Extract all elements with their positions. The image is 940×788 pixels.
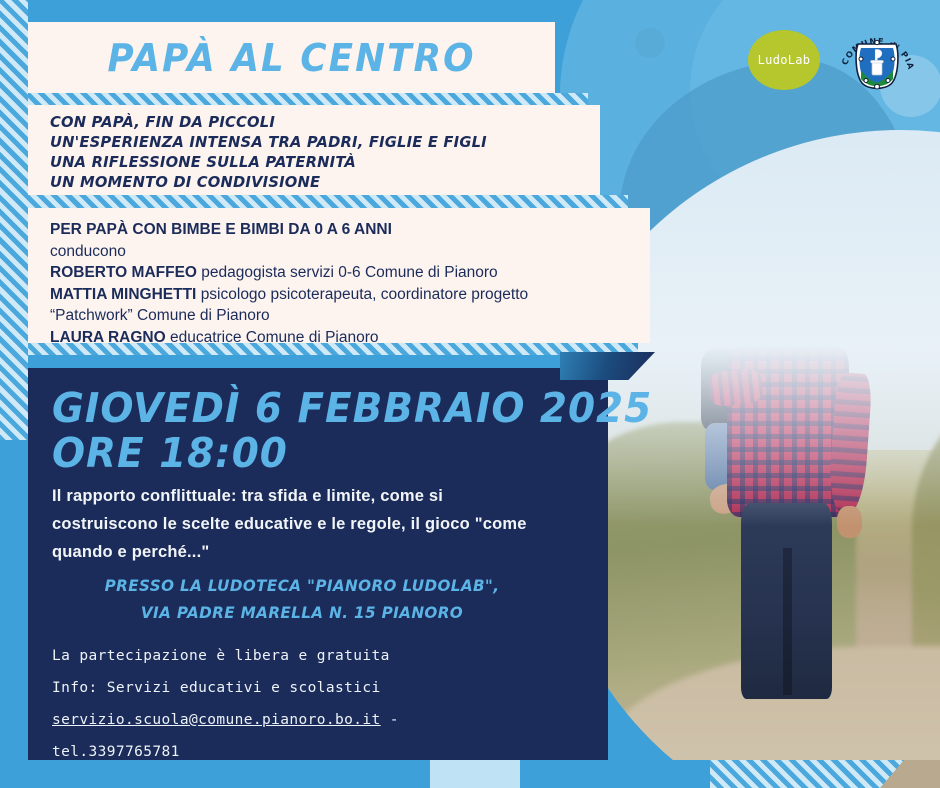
contact-email-row: servizio.scuola@comune.pianoro.bo.it - <box>52 704 572 736</box>
left-solid-column <box>0 440 28 788</box>
ludolab-logo: LudoLab <box>748 30 820 90</box>
conduct-label: conducono <box>50 241 650 263</box>
speaker-2-role: psicologo psicoterapeuta, coordinatore p… <box>201 286 528 303</box>
speaker-row-1: ROBERTO MAFFEO pedagogista servizi 0-6 C… <box>50 262 650 284</box>
audience-text-block: PER PAPÀ CON BIMBE E BIMBI DA 0 A 6 ANNI… <box>50 219 650 348</box>
event-venue-block: PRESSO LA LUDOTECA "PIANORO LUDOLAB", VI… <box>65 572 540 626</box>
speaker-row-2: MATTIA MINGHETTI psicologo psicoterapeut… <box>50 284 650 306</box>
speaker-1-role: pedagogista servizi 0-6 Comune di Pianor… <box>201 264 497 281</box>
stripe-divider-1 <box>28 93 588 105</box>
page-title: PAPÀ AL CENTRO <box>44 22 539 93</box>
intro-line-3: UNA RIFLESSIONE SULLA PATERNITÀ <box>50 152 563 172</box>
intro-line-1: CON PAPÀ, FIN DA PICCOLI <box>50 112 563 132</box>
intro-line-2: UN'ESPERIENZA INTENSA TRA PADRI, FIGLIE … <box>50 132 563 152</box>
speaker-row-4: LAURA RAGNO educatrice Comune di Pianoro <box>50 327 650 349</box>
contact-email[interactable]: servizio.scuola@comune.pianoro.bo.it <box>52 712 381 728</box>
venue-line-1: PRESSO LA LUDOTECA "PIANORO LUDOLAB", <box>65 572 540 599</box>
speaker-1-name: ROBERTO MAFFEO <box>50 264 197 281</box>
info-label: Info: Servizi educativi e scolastici <box>52 672 572 704</box>
background-dot-small <box>635 28 665 58</box>
speaker-row-3: “Patchwork” Comune di Pianoro <box>50 305 650 327</box>
poster-root: PAPÀ AL CENTRO CON PAPÀ, FIN DA PICCOLI … <box>0 0 940 788</box>
speaker-2-name: MATTIA MINGHETTI <box>50 286 196 303</box>
intro-line-4: UN MOMENTO DI CONDIVISIONE <box>50 172 563 192</box>
contact-block: La partecipazione è libera e gratuita In… <box>52 640 572 768</box>
venue-line-2: VIA PADRE MARELLA N. 15 PIANORO <box>65 599 540 626</box>
contact-email-suffix: - <box>381 712 399 728</box>
ludolab-logo-label: LudoLab <box>758 53 811 67</box>
comune-di-pianoro-crest-icon: COMUNE di PIANORO <box>838 18 916 96</box>
event-time: ORE 18:00 <box>52 431 546 476</box>
bottom-band-light-block <box>430 760 520 788</box>
speaker-4-name: LAURA RAGNO <box>50 329 166 346</box>
speaker-3-role: “Patchwork” Comune di Pianoro <box>50 307 270 324</box>
event-description: Il rapporto conflittuale: tra sfida e li… <box>52 482 552 566</box>
event-date-block: GIOVEDÌ 6 FEBBRAIO 2025 ORE 18:00 <box>52 386 546 476</box>
speaker-4-role: educatrice Comune di Pianoro <box>170 329 379 346</box>
free-participation-note: La partecipazione è libera e gratuita <box>52 640 572 672</box>
stripe-divider-2 <box>28 195 628 208</box>
intro-text-block: CON PAPÀ, FIN DA PICCOLI UN'ESPERIENZA I… <box>50 112 563 192</box>
event-date: GIOVEDÌ 6 FEBBRAIO 2025 <box>52 386 546 431</box>
audience-headline: PER PAPÀ CON BIMBE E BIMBI DA 0 A 6 ANNI <box>50 219 650 241</box>
